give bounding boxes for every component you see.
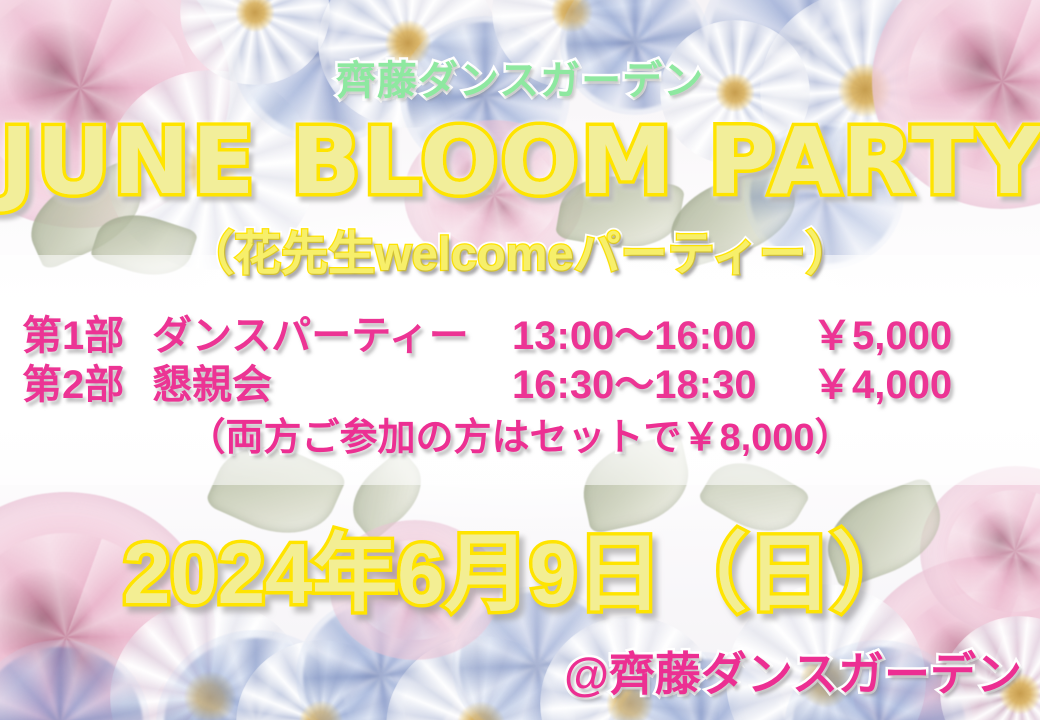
program-part-label: 第2部 [0, 352, 152, 410]
shop-name-heading: 齊藤ダンスガーデン [0, 48, 1040, 106]
program-price-label: ￥4,000 [812, 352, 1012, 410]
page-title: JUNE BLOOM PARTY JUNE BLOOM PARTY [0, 108, 1040, 215]
subtitle-text-overlay: （花先生welcomeパーティー） [0, 215, 1040, 284]
event-date: 2024年6月9日（日） 2024年6月9日（日） [0, 505, 1040, 628]
program-row-2: 第2部 懇親会 16:30～18:30 ￥4,000 [0, 352, 1040, 410]
program-time-label: 16:30～18:30 [512, 352, 812, 410]
event-poster: 齊藤ダンスガーデン JUNE BLOOM PARTY JUNE BLOOM PA… [0, 0, 1040, 720]
subtitle-heading: （花先生welcomeパーティー） （花先生welcomeパーティー） [0, 215, 1040, 284]
poster-content: 齊藤ダンスガーデン JUNE BLOOM PARTY JUNE BLOOM PA… [0, 0, 1040, 720]
venue-label: @齊藤ダンスガーデン [0, 638, 1022, 704]
program-name-label: 懇親会 [152, 352, 512, 410]
event-date-text-overlay: 2024年6月9日（日） [0, 505, 1040, 628]
headline-text-overlay: JUNE BLOOM PARTY [0, 108, 1040, 215]
set-price-note: （両方ご参加の方はセットで￥8,000） [0, 406, 1040, 461]
